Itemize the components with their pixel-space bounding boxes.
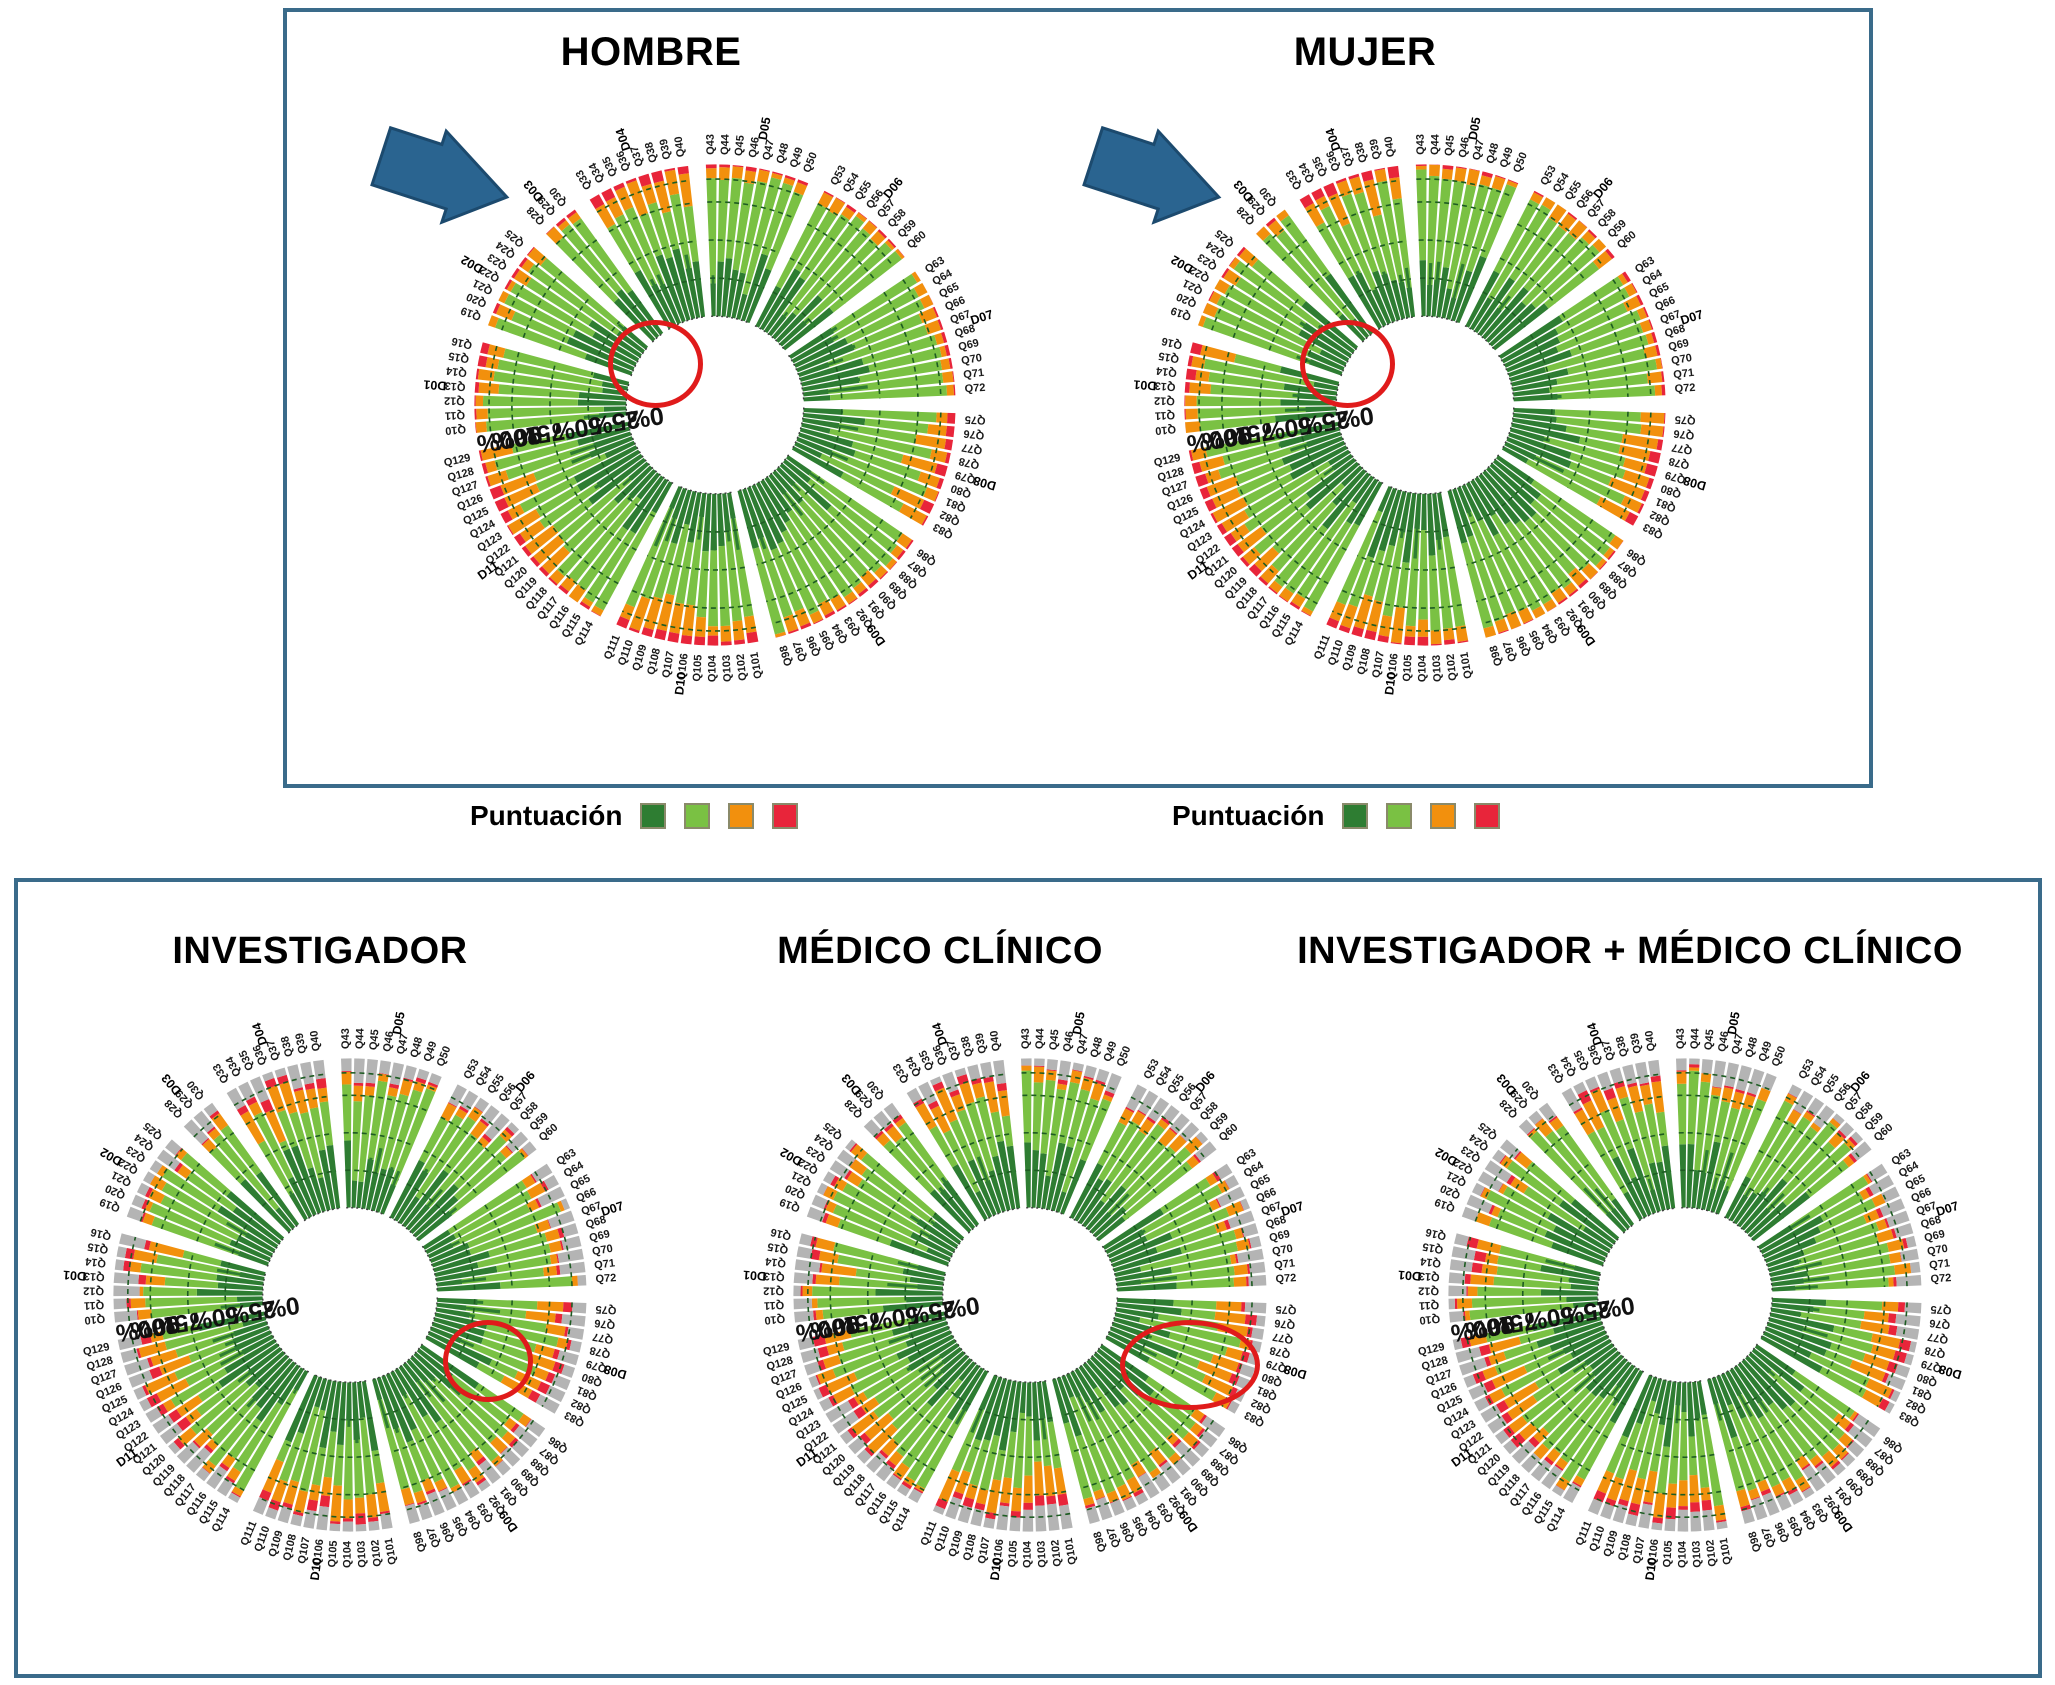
svg-text:Q11: Q11 — [1155, 409, 1176, 422]
svg-text:Q76: Q76 — [1274, 1317, 1296, 1331]
svg-text:Q105: Q105 — [691, 654, 705, 682]
circular-chart-medico-clinico[interactable]: Q10Q11Q12Q13Q14Q15Q16Q19Q20Q21Q22Q23Q24Q… — [735, 1000, 1325, 1590]
highlight-circle-medico-clinico — [1120, 1320, 1260, 1410]
svg-text:Q104: Q104 — [706, 654, 718, 682]
svg-text:Q72: Q72 — [964, 382, 986, 395]
svg-text:D01: D01 — [743, 1268, 767, 1284]
svg-text:Q43: Q43 — [1675, 1028, 1687, 1049]
svg-text:Q75: Q75 — [964, 413, 985, 426]
svg-text:D01: D01 — [423, 377, 447, 393]
svg-text:Q45: Q45 — [733, 135, 747, 157]
svg-text:Q103: Q103 — [355, 1540, 368, 1567]
svg-text:Q103: Q103 — [1035, 1540, 1048, 1567]
svg-text:Q76: Q76 — [594, 1317, 616, 1331]
svg-text:D01: D01 — [1398, 1268, 1422, 1284]
chart-title-medico-clinico: MÉDICO CLÍNICO — [705, 930, 1175, 973]
svg-text:Q45: Q45 — [368, 1029, 382, 1051]
legend-swatch-1 — [1342, 803, 1368, 829]
svg-text:Q43: Q43 — [1020, 1028, 1032, 1049]
svg-text:D10: D10 — [672, 671, 689, 695]
svg-text:Q10: Q10 — [445, 423, 467, 437]
legend-swatch-2 — [684, 803, 710, 829]
svg-text:Q104: Q104 — [341, 1540, 353, 1568]
circular-chart-investigador-medico[interactable]: Q10Q11Q12Q13Q14Q15Q16Q19Q20Q21Q22Q23Q24Q… — [1390, 1000, 1980, 1590]
svg-text:Q104: Q104 — [1416, 654, 1428, 682]
svg-text:Q44: Q44 — [719, 133, 732, 155]
svg-text:Q10: Q10 — [84, 1312, 106, 1326]
svg-text:Q103: Q103 — [1431, 655, 1444, 682]
svg-text:Q105: Q105 — [1661, 1540, 1675, 1568]
circular-chart-mujer[interactable]: Q10Q11Q12Q13Q14Q15Q16Q19Q20Q21Q22Q23Q24Q… — [1125, 105, 1725, 705]
legend-swatch-2 — [1386, 803, 1412, 829]
legend-mujer: Puntuación — [1172, 800, 1500, 832]
circular-chart-hombre[interactable]: Q10Q11Q12Q13Q14Q15Q16Q19Q20Q21Q22Q23Q24Q… — [415, 105, 1015, 705]
svg-text:D10: D10 — [1643, 1557, 1660, 1581]
svg-text:Q75: Q75 — [595, 1303, 616, 1316]
legend-swatch-4 — [1474, 803, 1500, 829]
svg-text:Q105: Q105 — [1006, 1540, 1020, 1568]
svg-text:Q44: Q44 — [1429, 133, 1442, 155]
svg-text:Q12: Q12 — [1154, 394, 1175, 406]
svg-text:Q76: Q76 — [1673, 427, 1695, 441]
svg-text:Q12: Q12 — [83, 1284, 104, 1296]
svg-text:Q43: Q43 — [705, 134, 717, 155]
svg-text:Q104: Q104 — [1676, 1540, 1688, 1568]
svg-text:Q10: Q10 — [764, 1312, 786, 1326]
svg-text:D01: D01 — [1133, 377, 1157, 393]
svg-text:Q71: Q71 — [963, 367, 985, 381]
legend-swatch-3 — [728, 803, 754, 829]
svg-text:Q71: Q71 — [1929, 1257, 1951, 1271]
svg-text:Q11: Q11 — [1419, 1299, 1440, 1312]
svg-text:Q12: Q12 — [763, 1284, 784, 1296]
svg-text:Q45: Q45 — [1703, 1029, 1717, 1051]
circular-chart-investigador[interactable]: Q10Q11Q12Q13Q14Q15Q16Q19Q20Q21Q22Q23Q24Q… — [55, 1000, 645, 1590]
svg-text:Q72: Q72 — [1275, 1272, 1297, 1285]
svg-text:Q44: Q44 — [354, 1027, 367, 1049]
svg-text:Q76: Q76 — [963, 427, 985, 441]
svg-text:Q10: Q10 — [1419, 1312, 1441, 1326]
svg-text:D01: D01 — [63, 1268, 87, 1284]
svg-text:Q75: Q75 — [1930, 1303, 1951, 1316]
svg-text:Q75: Q75 — [1275, 1303, 1296, 1316]
svg-text:D10: D10 — [1382, 671, 1399, 695]
svg-text:Q11: Q11 — [764, 1299, 785, 1312]
svg-text:Q44: Q44 — [1034, 1027, 1047, 1049]
chart-title-investigador: INVESTIGADOR — [80, 930, 560, 973]
legend-label: Puntuación — [1172, 800, 1324, 832]
svg-text:Q103: Q103 — [721, 655, 734, 682]
svg-text:D10: D10 — [308, 1557, 325, 1581]
svg-text:Q11: Q11 — [445, 409, 466, 422]
svg-text:Q76: Q76 — [1929, 1317, 1951, 1331]
svg-text:Q43: Q43 — [1415, 134, 1427, 155]
svg-text:D10: D10 — [988, 1557, 1005, 1581]
svg-text:Q72: Q72 — [1930, 1272, 1952, 1285]
svg-text:Q71: Q71 — [594, 1257, 616, 1271]
svg-text:Q71: Q71 — [1673, 367, 1695, 381]
svg-text:Q71: Q71 — [1274, 1257, 1296, 1271]
svg-text:Q45: Q45 — [1443, 135, 1457, 157]
legend-swatch-3 — [1430, 803, 1456, 829]
legend-label: Puntuación — [470, 800, 622, 832]
svg-text:Q44: Q44 — [1689, 1027, 1702, 1049]
chart-title-mujer: MUJER — [1200, 30, 1530, 75]
svg-text:Q43: Q43 — [340, 1028, 352, 1049]
svg-text:Q45: Q45 — [1048, 1029, 1062, 1051]
legend-hombre: Puntuación — [470, 800, 798, 832]
svg-text:Q105: Q105 — [1401, 654, 1415, 682]
chart-title-investigador-medico: INVESTIGADOR + MÉDICO CLÍNICO — [1235, 930, 2025, 973]
svg-text:Q104: Q104 — [1021, 1540, 1033, 1568]
chart-title-hombre: HOMBRE — [486, 30, 816, 75]
highlight-circle-hombre — [608, 320, 703, 408]
svg-text:Q12: Q12 — [444, 394, 465, 406]
svg-text:Q72: Q72 — [595, 1272, 617, 1285]
svg-text:Q72: Q72 — [1674, 382, 1696, 395]
svg-text:Q75: Q75 — [1674, 413, 1695, 426]
svg-text:Q12: Q12 — [1418, 1284, 1439, 1296]
legend-swatch-1 — [640, 803, 666, 829]
svg-text:Q11: Q11 — [84, 1299, 105, 1312]
legend-swatch-4 — [772, 803, 798, 829]
svg-text:Q10: Q10 — [1155, 423, 1177, 437]
svg-text:Q105: Q105 — [326, 1540, 340, 1568]
highlight-circle-investigador — [443, 1320, 533, 1402]
highlight-circle-mujer — [1300, 320, 1395, 408]
svg-text:Q103: Q103 — [1690, 1540, 1703, 1567]
